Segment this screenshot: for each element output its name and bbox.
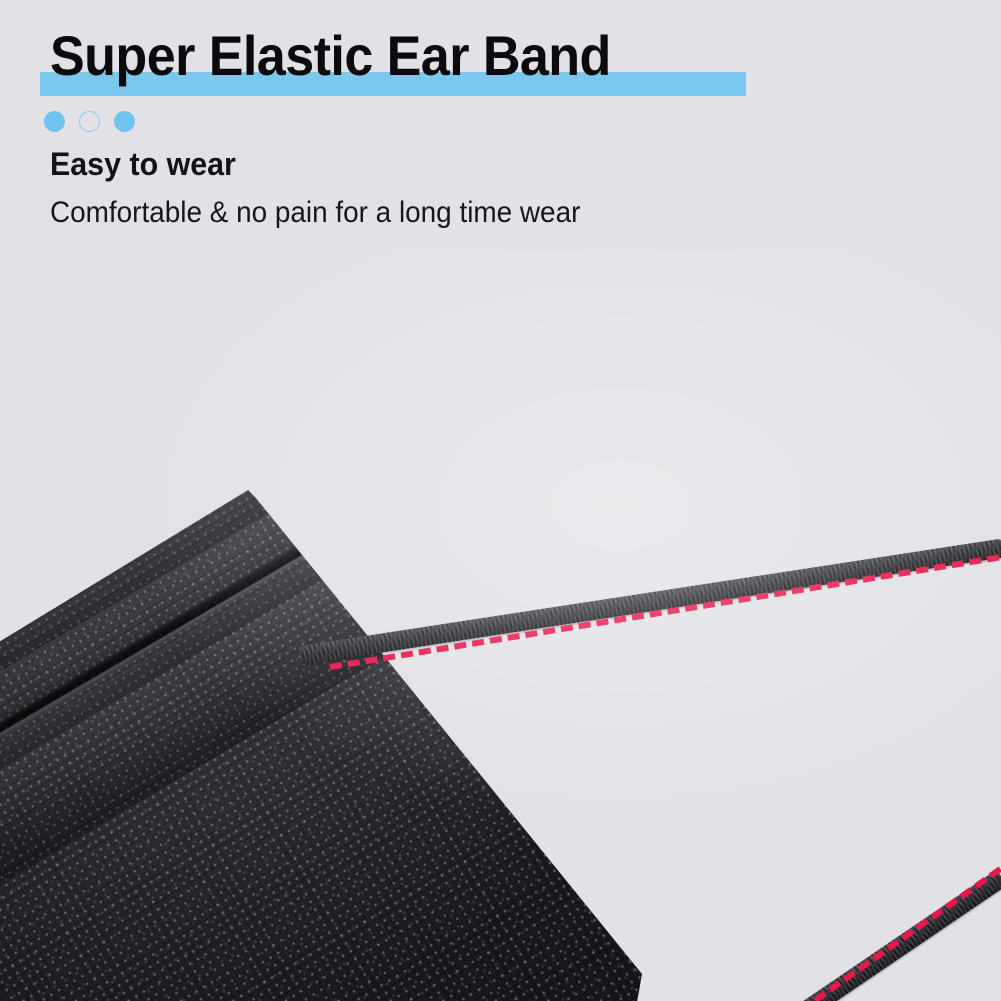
annotation-dashed-line-bottom xyxy=(638,856,1001,1001)
mask-body xyxy=(0,350,720,1001)
mask-dot-emboss-texture-secondary xyxy=(0,350,720,1001)
sub-description: Comfortable & no pain for a long time we… xyxy=(50,195,580,231)
decorative-dots xyxy=(44,111,135,132)
product-photo xyxy=(0,250,1001,1001)
dot-outline-icon xyxy=(79,111,100,132)
annotation-dashed-line-top xyxy=(330,554,1000,669)
dot-filled-icon xyxy=(114,111,135,132)
dot-filled-icon xyxy=(44,111,65,132)
ear-band-bottom xyxy=(623,870,1001,1001)
page-title: Super Elastic Ear Band xyxy=(50,24,611,88)
mask-pleat-shade-1 xyxy=(0,350,720,612)
ear-band-top xyxy=(299,538,1001,664)
product-feature-banner: Super Elastic Ear Band Easy to wear Comf… xyxy=(0,0,1001,1001)
title-group: Super Elastic Ear Band xyxy=(50,24,653,96)
subheading: Easy to wear xyxy=(50,145,236,183)
header-text-block: Super Elastic Ear Band Easy to wear Comf… xyxy=(0,0,1001,260)
